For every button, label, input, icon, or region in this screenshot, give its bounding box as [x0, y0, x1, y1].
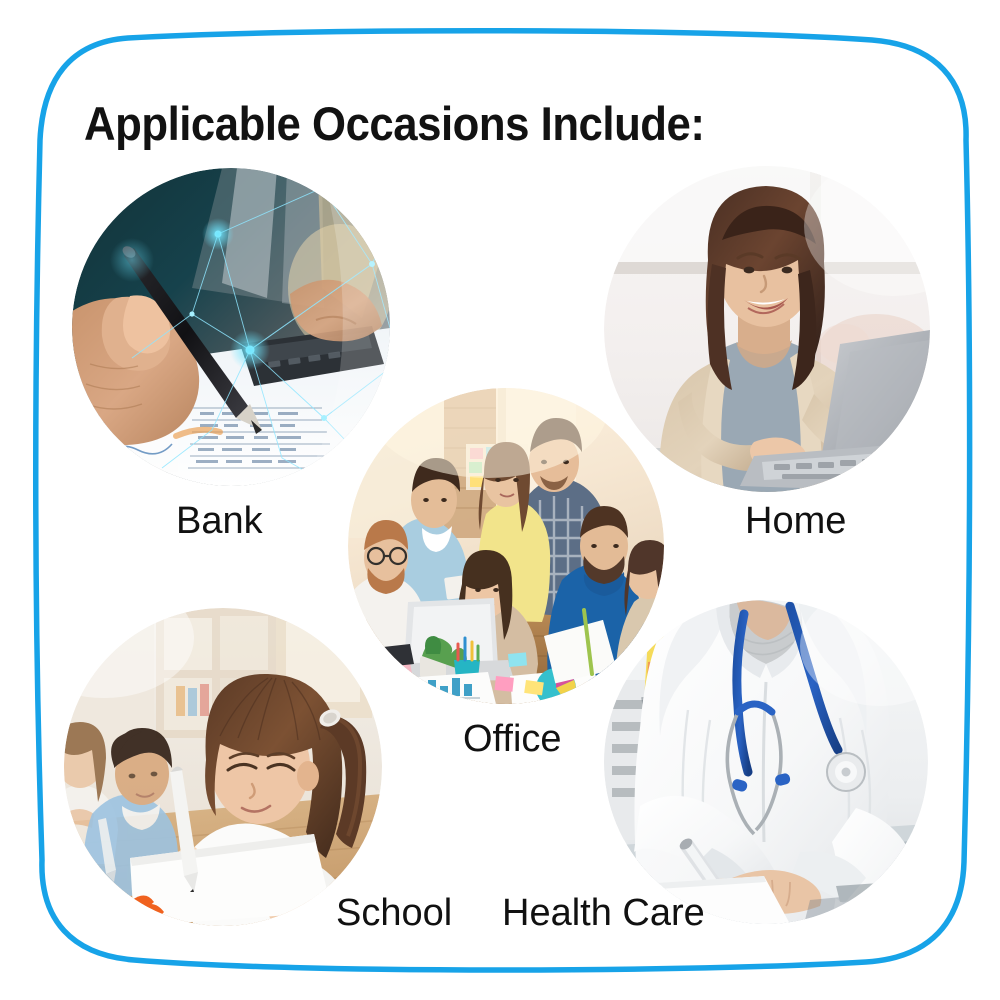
- occasion-image-home: [604, 166, 930, 492]
- promo-banner: Applicable Occasions Include:: [0, 0, 1000, 1000]
- occasion-image-health: [604, 600, 928, 924]
- occasion-image-bank: [72, 168, 390, 486]
- occasion-image-office: [348, 388, 664, 704]
- occasion-label-bank: Bank: [176, 500, 263, 543]
- occasion-label-school: School: [336, 892, 452, 935]
- occasion-label-health: Health Care: [502, 892, 705, 935]
- occasion-label-office: Office: [463, 718, 562, 761]
- page-title: Applicable Occasions Include:: [84, 96, 704, 151]
- occasion-image-school: [64, 608, 382, 926]
- occasion-label-home: Home: [745, 500, 846, 543]
